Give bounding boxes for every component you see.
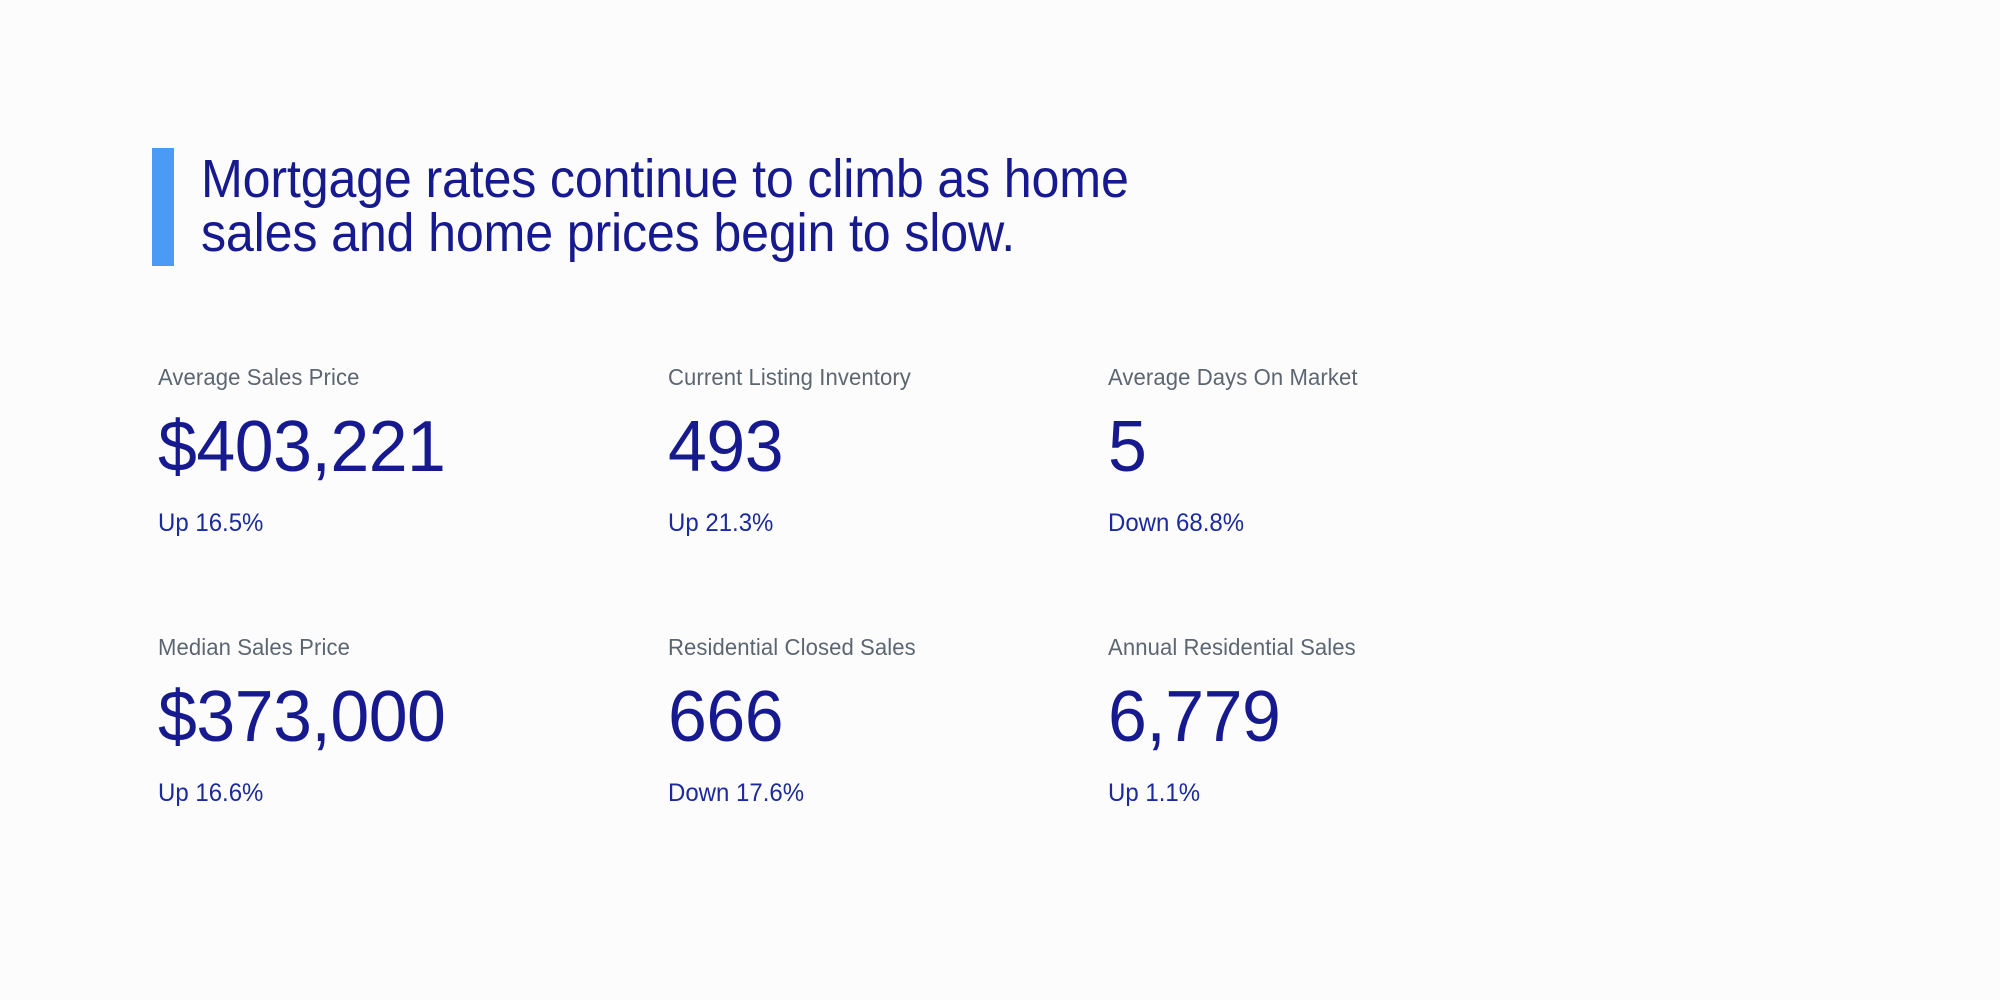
stat-change: Up 16.6% <box>158 781 648 806</box>
stats-grid: Average Sales Price $403,221 Up 16.5% Cu… <box>158 366 1658 806</box>
stat-value: $373,000 <box>158 681 653 753</box>
stat-label: Annual Residential Sales <box>1108 636 1530 659</box>
stat-card-residential-closed-sales: Residential Closed Sales 666 Down 17.6% <box>668 636 1108 806</box>
stat-card-current-listing-inventory: Current Listing Inventory 493 Up 21.3% <box>668 366 1108 536</box>
page-title: Mortgage rates continue to climb as home… <box>201 148 1129 266</box>
stat-value: 6,779 <box>1108 681 1535 753</box>
stat-change: Up 16.5% <box>158 511 648 536</box>
stat-value: 666 <box>668 681 1095 753</box>
stat-card-average-days-on-market: Average Days On Market 5 Down 68.8% <box>1108 366 1548 536</box>
stat-change: Up 21.3% <box>668 511 1090 536</box>
stat-card-annual-residential-sales: Annual Residential Sales 6,779 Up 1.1% <box>1108 636 1548 806</box>
stat-label: Average Sales Price <box>158 366 648 389</box>
accent-bar <box>152 148 174 266</box>
stat-value: 493 <box>668 411 1095 483</box>
stat-value: $403,221 <box>158 411 653 483</box>
headline-block: Mortgage rates continue to climb as home… <box>152 148 1199 266</box>
stat-value: 5 <box>1108 411 1535 483</box>
stat-label: Current Listing Inventory <box>668 366 1090 389</box>
stat-label: Residential Closed Sales <box>668 636 1090 659</box>
stat-card-median-sales-price: Median Sales Price $373,000 Up 16.6% <box>158 636 668 806</box>
market-stats-graphic: Mortgage rates continue to climb as home… <box>0 0 2000 1000</box>
stat-label: Median Sales Price <box>158 636 648 659</box>
stat-change: Down 17.6% <box>668 781 1090 806</box>
stat-change: Up 1.1% <box>1108 781 1530 806</box>
stat-card-average-sales-price: Average Sales Price $403,221 Up 16.5% <box>158 366 668 536</box>
stat-change: Down 68.8% <box>1108 511 1530 536</box>
stat-label: Average Days On Market <box>1108 366 1530 389</box>
